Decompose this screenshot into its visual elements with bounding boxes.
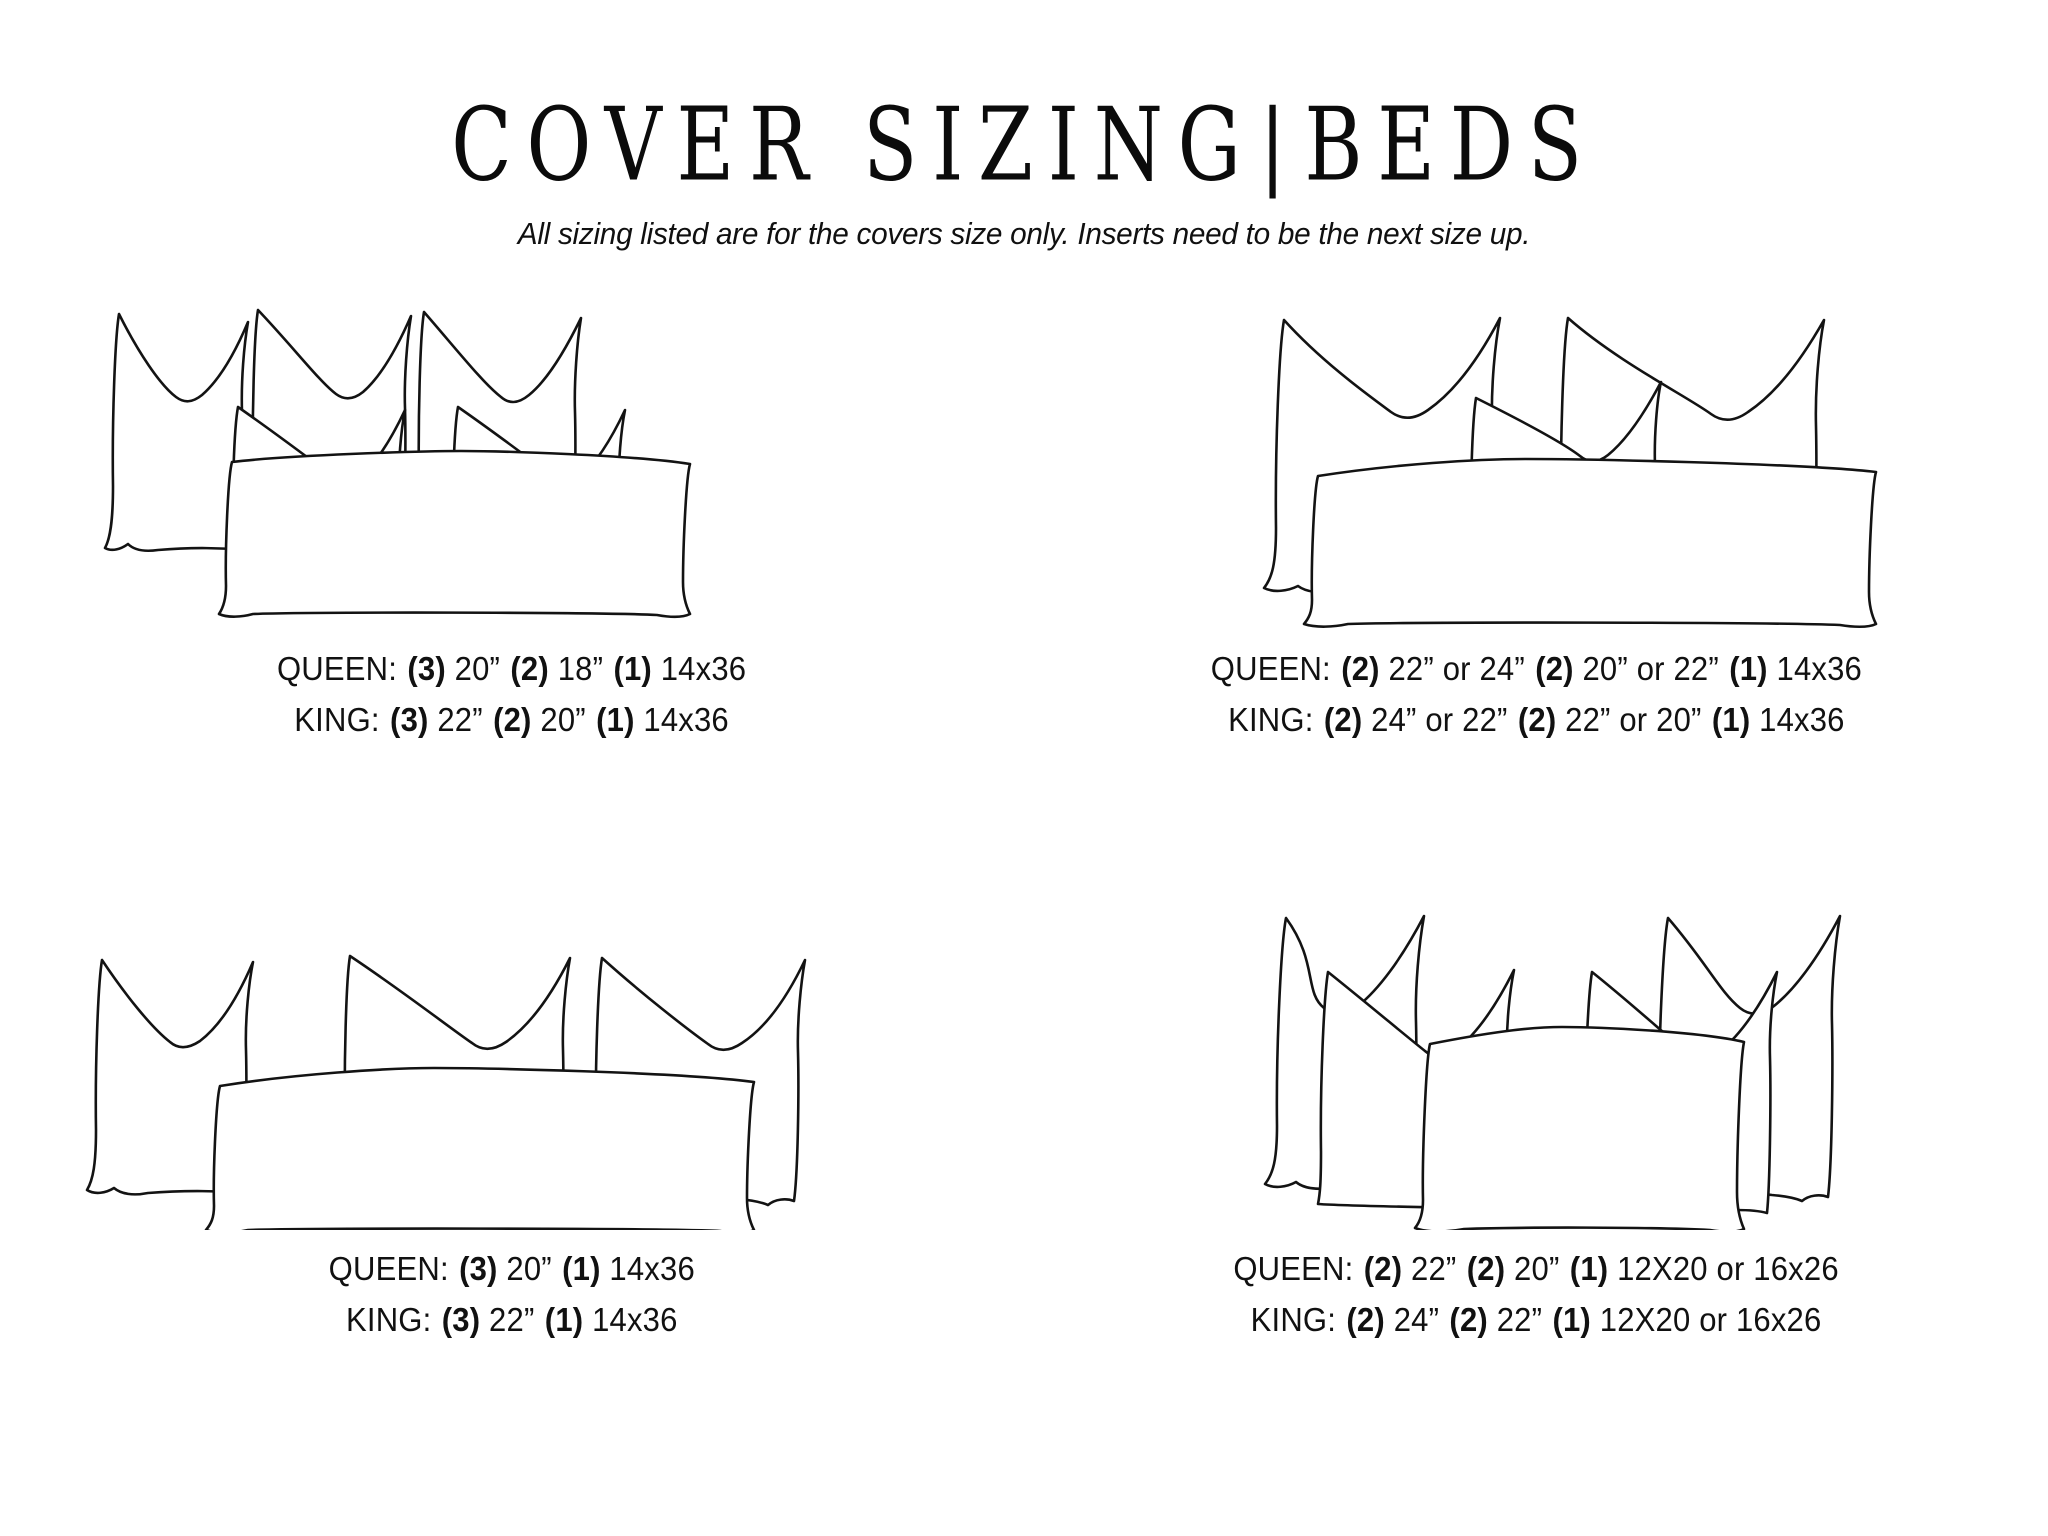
caption-count: (2): [1364, 1250, 1402, 1287]
caption-size: 14x36: [1759, 701, 1844, 738]
lumbar-pillow-front: [1304, 459, 1876, 627]
caption-label: QUEEN:: [277, 650, 397, 687]
caption-row-king: KING:(3) 22”(2) 20”(1) 14x36: [277, 703, 746, 736]
caption-count: (3): [459, 1250, 497, 1287]
pillow-illustration-3: [72, 900, 952, 1230]
caption-count: (1): [562, 1250, 600, 1287]
caption-size: 18”: [558, 650, 603, 687]
caption-block-3: QUEEN:(3) 20”(1) 14x36 KING:(3) 22”(1) 1…: [317, 1252, 707, 1354]
caption-size: 24” or 22”: [1371, 701, 1507, 738]
caption-count: (1): [545, 1301, 583, 1338]
caption-count: (3): [408, 650, 446, 687]
caption-size: 14x36: [661, 650, 746, 687]
caption-row-king: KING:(3) 22”(1) 14x36: [329, 1303, 695, 1336]
pillow-illustration-2: [1096, 300, 1976, 630]
caption-size: 22”: [489, 1301, 534, 1338]
lumbar-pillow-front: [219, 451, 690, 617]
caption-block-1: QUEEN:(3) 20”(2) 18”(1) 14x36 KING:(3) 2…: [262, 652, 761, 754]
caption-count: (1): [1552, 1301, 1590, 1338]
pillow-arrangement-grid: QUEEN:(3) 20”(2) 18”(1) 14x36 KING:(3) 2…: [0, 300, 2048, 1500]
page-subtitle: All sizing listed are for the covers siz…: [41, 168, 2007, 252]
caption-count: (1): [1712, 701, 1750, 738]
caption-size: 14x36: [610, 1250, 695, 1287]
caption-size: 20”: [455, 650, 500, 687]
caption-count: (2): [1341, 650, 1379, 687]
caption-size: 12X20 or 16x26: [1600, 1301, 1822, 1338]
caption-count: (1): [1729, 650, 1767, 687]
caption-count: (2): [1323, 701, 1361, 738]
caption-count: (3): [390, 701, 428, 738]
caption-count: (2): [493, 701, 531, 738]
arrangement-group-4: QUEEN:(2) 22”(2) 20”(1) 12X20 or 16x26 K…: [1024, 900, 2048, 1500]
caption-row-queen: QUEEN:(2) 22” or 24”(2) 20” or 22”(1) 14…: [1210, 652, 1861, 685]
caption-label: QUEEN:: [329, 1250, 449, 1287]
sizing-guide-page: COVER SIZING|BEDS All sizing listed are …: [0, 0, 2048, 1536]
caption-count: (2): [511, 650, 549, 687]
caption-size: 20”: [507, 1250, 552, 1287]
caption-size: 14x36: [644, 701, 729, 738]
caption-label: KING:: [295, 701, 380, 738]
caption-count: (2): [1449, 1301, 1487, 1338]
caption-size: 20” or 22”: [1582, 650, 1718, 687]
caption-label: KING:: [346, 1301, 431, 1338]
lumbar-pillow-front: [206, 1068, 754, 1230]
caption-size: 22”: [438, 701, 483, 738]
caption-size: 22” or 20”: [1565, 701, 1701, 738]
caption-row-queen: QUEEN:(2) 22”(2) 20”(1) 12X20 or 16x26: [1233, 1252, 1838, 1285]
caption-size: 12X20 or 16x26: [1617, 1250, 1839, 1287]
caption-size: 14x36: [1776, 650, 1861, 687]
caption-count: (2): [1467, 1250, 1505, 1287]
page-header: COVER SIZING|BEDS All sizing listed are …: [0, 0, 2048, 252]
pillow-illustration-4: [1096, 900, 1976, 1230]
caption-count: (3): [442, 1301, 480, 1338]
caption-size: 22”: [1497, 1301, 1542, 1338]
caption-block-4: QUEEN:(2) 22”(2) 20”(1) 12X20 or 16x26 K…: [1214, 1252, 1858, 1354]
caption-size: 24”: [1394, 1301, 1439, 1338]
caption-label: QUEEN:: [1210, 650, 1330, 687]
caption-count: (2): [1346, 1301, 1384, 1338]
lumbar-pillow-front: [1415, 1027, 1744, 1230]
caption-row-queen: QUEEN:(3) 20”(2) 18”(1) 14x36: [277, 652, 746, 685]
caption-count: (1): [1570, 1250, 1608, 1287]
caption-label: KING:: [1228, 701, 1313, 738]
caption-size: 22” or 24”: [1388, 650, 1524, 687]
caption-size: 22”: [1411, 1250, 1456, 1287]
caption-row-queen: QUEEN:(3) 20”(1) 14x36: [329, 1252, 695, 1285]
caption-label: QUEEN:: [1233, 1250, 1353, 1287]
caption-count: (1): [597, 701, 635, 738]
caption-row-king: KING:(2) 24”(2) 22”(1) 12X20 or 16x26: [1233, 1303, 1838, 1336]
arrangement-group-1: QUEEN:(3) 20”(2) 18”(1) 14x36 KING:(3) 2…: [0, 300, 1024, 900]
pillow-illustration-1: [72, 300, 952, 630]
caption-count: (2): [1517, 701, 1555, 738]
caption-row-king: KING:(2) 24” or 22”(2) 22” or 20”(1) 14x…: [1210, 703, 1861, 736]
arrangement-group-2: QUEEN:(2) 22” or 24”(2) 20” or 22”(1) 14…: [1024, 300, 2048, 900]
caption-block-2: QUEEN:(2) 22” or 24”(2) 20” or 22”(1) 14…: [1190, 652, 1883, 754]
caption-label: KING:: [1251, 1301, 1336, 1338]
arrangement-group-3: QUEEN:(3) 20”(1) 14x36 KING:(3) 22”(1) 1…: [0, 900, 1024, 1500]
caption-size: 20”: [1514, 1250, 1559, 1287]
caption-size: 14x36: [592, 1301, 677, 1338]
caption-count: (2): [1535, 650, 1573, 687]
caption-size: 20”: [541, 701, 586, 738]
caption-count: (1): [614, 650, 652, 687]
